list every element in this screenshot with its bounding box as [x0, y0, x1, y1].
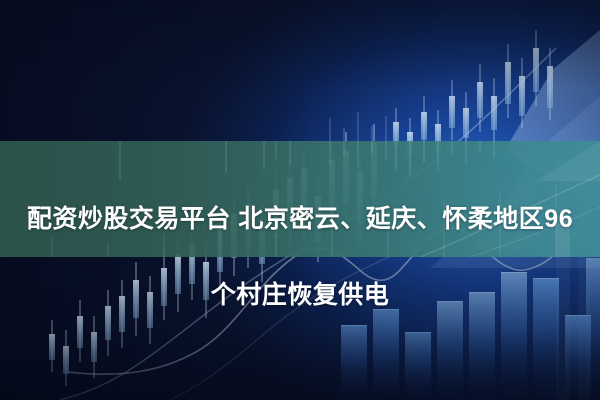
banner-image: 配资炒股交易平台 北京密云、延庆、怀柔地区96 个村庄恢复供电 — [0, 0, 600, 400]
page-title-line-2: 个村庄恢复供电 — [0, 276, 600, 314]
page-title: 配资炒股交易平台 北京密云、延庆、怀柔地区96 个村庄恢复供电 — [0, 162, 600, 352]
page-title-line-1: 配资炒股交易平台 北京密云、延庆、怀柔地区96 — [0, 200, 600, 238]
